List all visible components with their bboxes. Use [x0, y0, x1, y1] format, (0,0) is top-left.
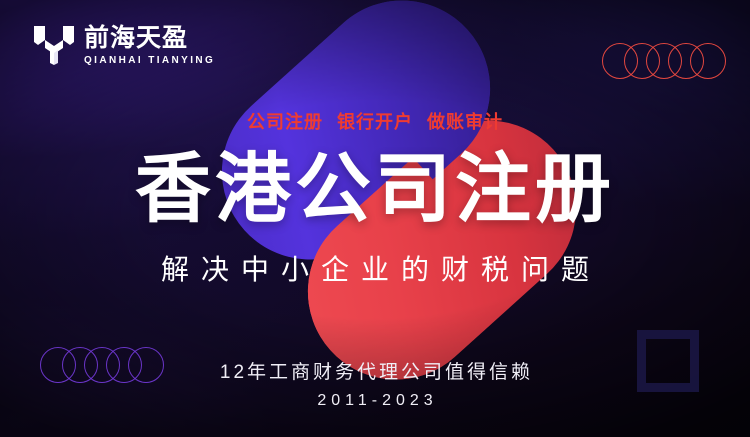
kicker-item-0: 公司注册 — [247, 112, 323, 132]
hero-years-range: 2011-2023 — [0, 392, 750, 410]
hero-subheadline: 解决中小企业的财税问题 — [0, 248, 750, 288]
qianhai-tianying-logo-mark — [34, 24, 74, 66]
brand-logo-text: 前海天盈 QIANHAI TIANYING — [84, 25, 215, 66]
hero-headline: 香港公司注册 — [0, 152, 750, 228]
hero-footline: 12年工商财务代理公司值得信赖 — [0, 357, 750, 384]
kicker-item-1: 银行开户 — [337, 112, 413, 132]
brand-logo: 前海天盈 QIANHAI TIANYING — [34, 24, 215, 66]
brand-name-en: QIANHAI TIANYING — [84, 55, 215, 66]
hero-kicker: 公司注册 银行开户 做账审计 — [0, 108, 750, 134]
kicker-item-2: 做账审计 — [427, 112, 503, 132]
brand-name-cn: 前海天盈 — [84, 25, 215, 51]
promo-banner: 前海天盈 QIANHAI TIANYING 公司注册 银行开户 做账审计 香港公… — [0, 0, 750, 437]
